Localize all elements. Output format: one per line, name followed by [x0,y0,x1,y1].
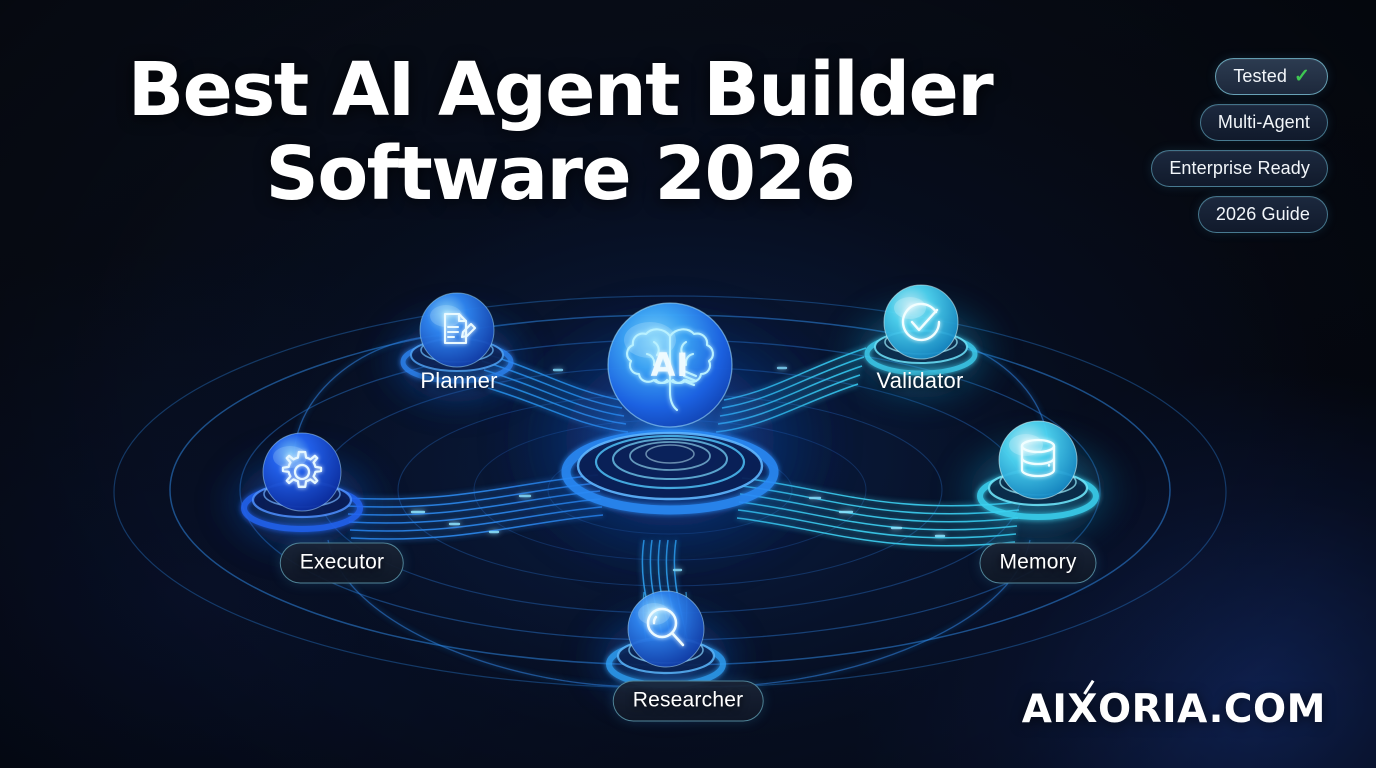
badge-multi-agent[interactable]: Multi-Agent [1200,104,1328,141]
badge-label: 2026 Guide [1216,204,1310,224]
badge-label: Multi-Agent [1218,112,1310,132]
page-title: Best AI Agent Builder Software 2026 [0,48,1120,216]
badge-enterprise-ready[interactable]: Enterprise Ready [1151,150,1328,187]
node-ai-core: AI [490,290,850,590]
node-label-validator[interactable]: Validator [877,368,964,394]
agent-network-diagram: AI [150,240,1190,740]
logo-text-suffix: ORIA.COM [1098,687,1326,732]
promo-graphic: AI Best AI Agent Builder Software 2026 T… [0,0,1376,768]
badge-2026-guide[interactable]: 2026 Guide [1198,196,1328,233]
logo-x-mark: X [1067,687,1098,732]
badge-label: Tested [1233,66,1287,86]
badge-label: Enterprise Ready [1169,158,1310,178]
site-logo[interactable]: AIXORIA.COM [1022,687,1326,732]
node-memory [946,421,1130,554]
badge-list: Tested ✓ Multi-Agent Enterprise Ready 20… [1151,58,1328,233]
badge-tested[interactable]: Tested ✓ [1215,58,1328,95]
node-label-memory[interactable]: Memory [979,543,1096,584]
node-label-researcher[interactable]: Researcher [613,681,764,722]
check-icon: ✓ [1294,67,1310,86]
logo-text-prefix: AI [1022,687,1068,732]
node-label-planner[interactable]: Planner [420,368,497,394]
svg-text:AI: AI [651,346,690,384]
title-line-1: Best AI Agent Builder [0,48,1120,132]
title-line-2: Software 2026 [0,132,1120,216]
node-label-executor[interactable]: Executor [280,543,404,584]
